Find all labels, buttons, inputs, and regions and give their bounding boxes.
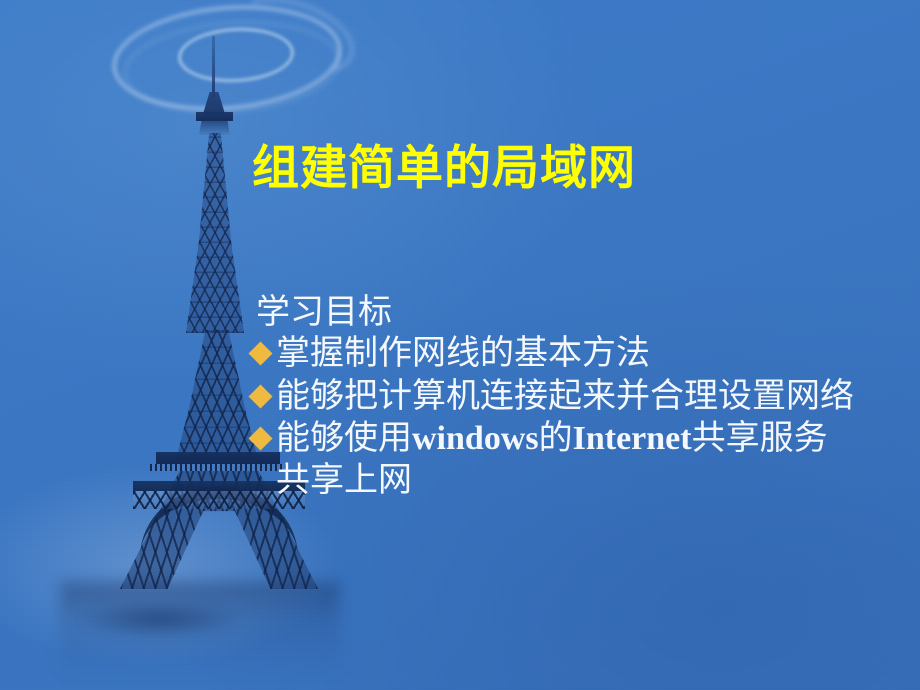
presentation-slide: 组建简单的局域网 学习目标 掌握制作网线的基本方法 能够把计算机连接起来并合理设… <box>0 0 920 690</box>
tower-shaft-upper <box>186 133 244 333</box>
slide-title: 组建简单的局域网 <box>252 143 636 195</box>
list-item-label: 能够把计算机连接起来并合理设置网络 <box>276 376 854 418</box>
tower-deck-third <box>196 112 233 121</box>
list-item-middle: 的 <box>539 420 573 457</box>
diamond-bullet-icon <box>248 342 272 366</box>
tower-deck-third-base <box>199 121 230 135</box>
list-item-suffix: 共享服务 <box>692 420 828 457</box>
diamond-bullet-icon <box>248 426 272 450</box>
tower-shaft-middle <box>176 330 258 460</box>
tower-antenna <box>212 36 215 98</box>
list-item: 掌握制作网线的基本方法 <box>252 333 912 375</box>
list-item-latin-windows: windows <box>412 420 539 457</box>
list-item-latin-internet: Internet <box>573 420 692 457</box>
list-item: 能够把计算机连接起来并合理设置网络 <box>252 376 912 418</box>
tower-ground-shadow <box>74 596 264 648</box>
list-item-label: 掌握制作网线的基本方法 <box>276 333 650 375</box>
list-item-prefix: 能够使用 <box>276 420 412 457</box>
objectives-heading: 学习目标 <box>252 292 912 333</box>
list-item: 能够使用windows的Internet共享服务 <box>252 418 912 460</box>
slide-body: 学习目标 掌握制作网线的基本方法 能够把计算机连接起来并合理设置网络 能够使用w… <box>252 292 912 502</box>
diamond-bullet-icon <box>248 384 272 408</box>
list-item-continuation: 共享上网 <box>252 460 912 502</box>
list-item-label: 能够使用windows的Internet共享服务 <box>276 418 828 460</box>
